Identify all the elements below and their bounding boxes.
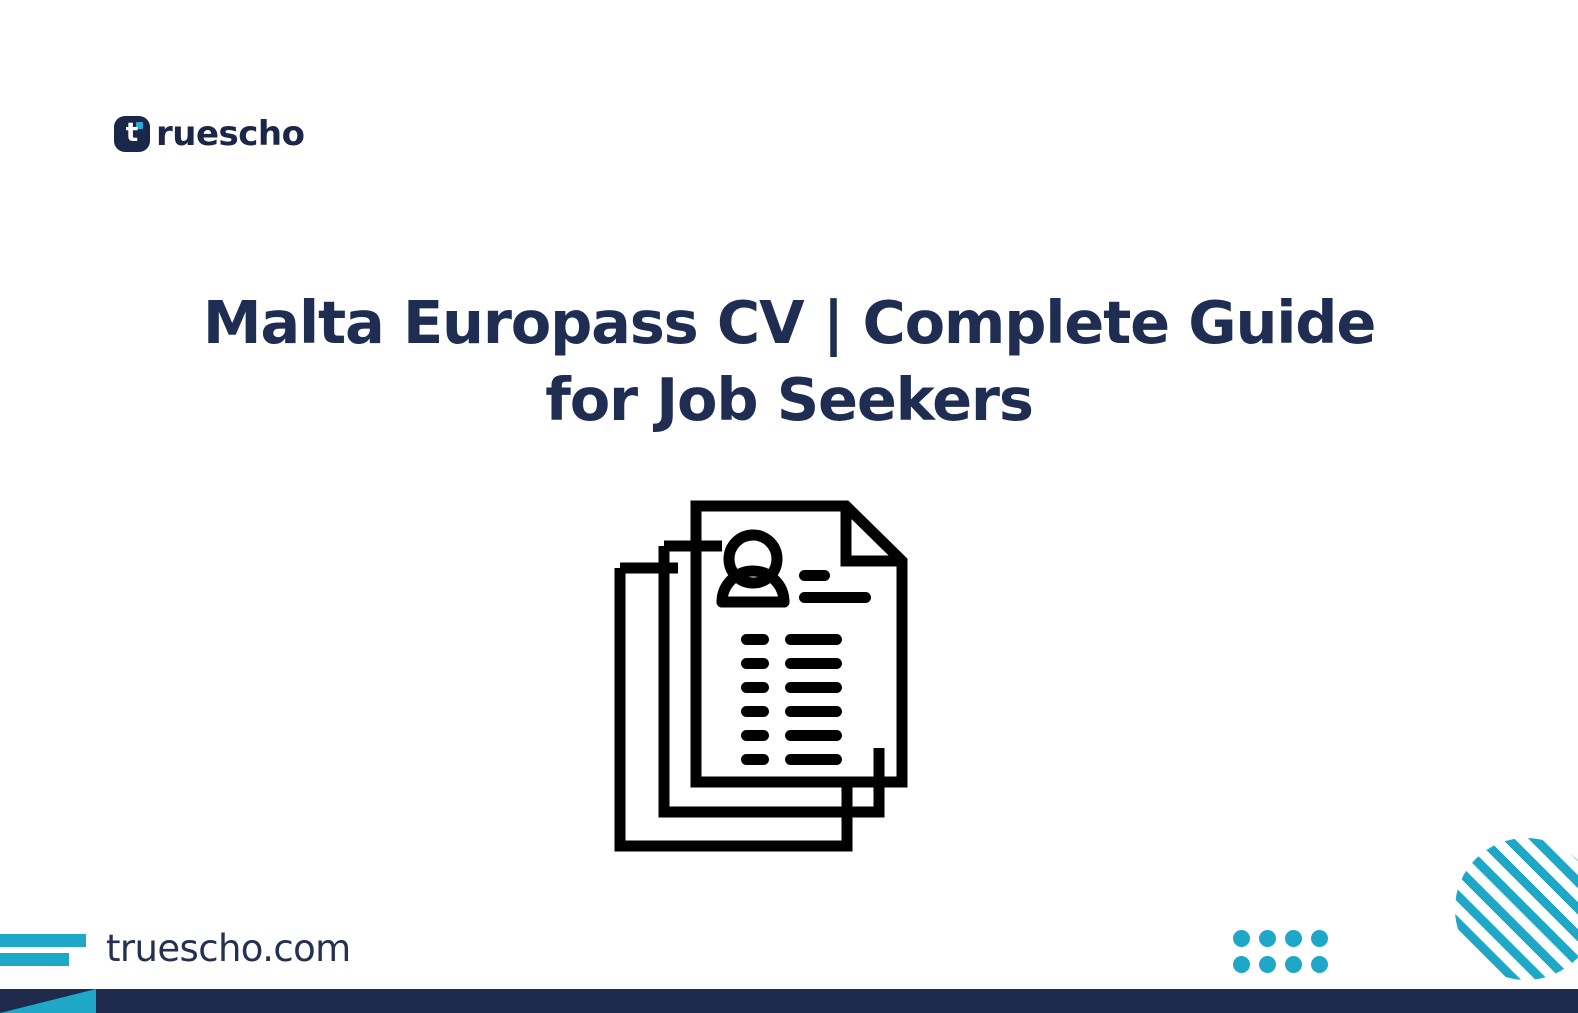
logo-letter: t [126, 120, 138, 146]
truescho-logo-icon: t [114, 116, 150, 152]
dot [1285, 930, 1302, 947]
footer-bar-bottom [0, 953, 69, 966]
bottom-navy-bar [0, 989, 1578, 1013]
slide-canvas: t ruescho Malta Europass CV | Complete G… [0, 0, 1578, 1013]
footer-bars-icon [0, 925, 88, 967]
footer-brand[interactable]: truescho.com [0, 925, 351, 967]
cv-documents-stack-icon [614, 492, 914, 852]
footer-url[interactable]: truescho.com [106, 930, 351, 967]
title-line-1: Malta Europass CV | Complete Guide [120, 284, 1458, 361]
footer-bar-top [0, 934, 86, 947]
dot-cell [1280, 951, 1306, 977]
dot-cell [1254, 925, 1280, 951]
dot-cell [1280, 925, 1306, 951]
dot [1311, 956, 1328, 973]
dot [1311, 930, 1328, 947]
dot [1259, 956, 1276, 973]
dot [1285, 956, 1302, 973]
brand-logo[interactable]: t ruescho [114, 116, 305, 152]
brand-wordmark: ruescho [156, 117, 305, 151]
striped-circle-decoration [1455, 838, 1578, 980]
dot [1233, 956, 1250, 973]
cyan-corner-triangle [0, 989, 96, 1013]
dot-cell [1254, 951, 1280, 977]
page-title: Malta Europass CV | Complete Guide for J… [0, 284, 1578, 438]
title-line-2: for Job Seekers [120, 361, 1458, 438]
dot-cell [1228, 951, 1254, 977]
dot-cell [1306, 925, 1332, 951]
dot-cell [1306, 951, 1332, 977]
dot-grid-decoration [1228, 925, 1332, 977]
dot [1259, 930, 1276, 947]
dot-cell [1228, 925, 1254, 951]
dot [1233, 930, 1250, 947]
